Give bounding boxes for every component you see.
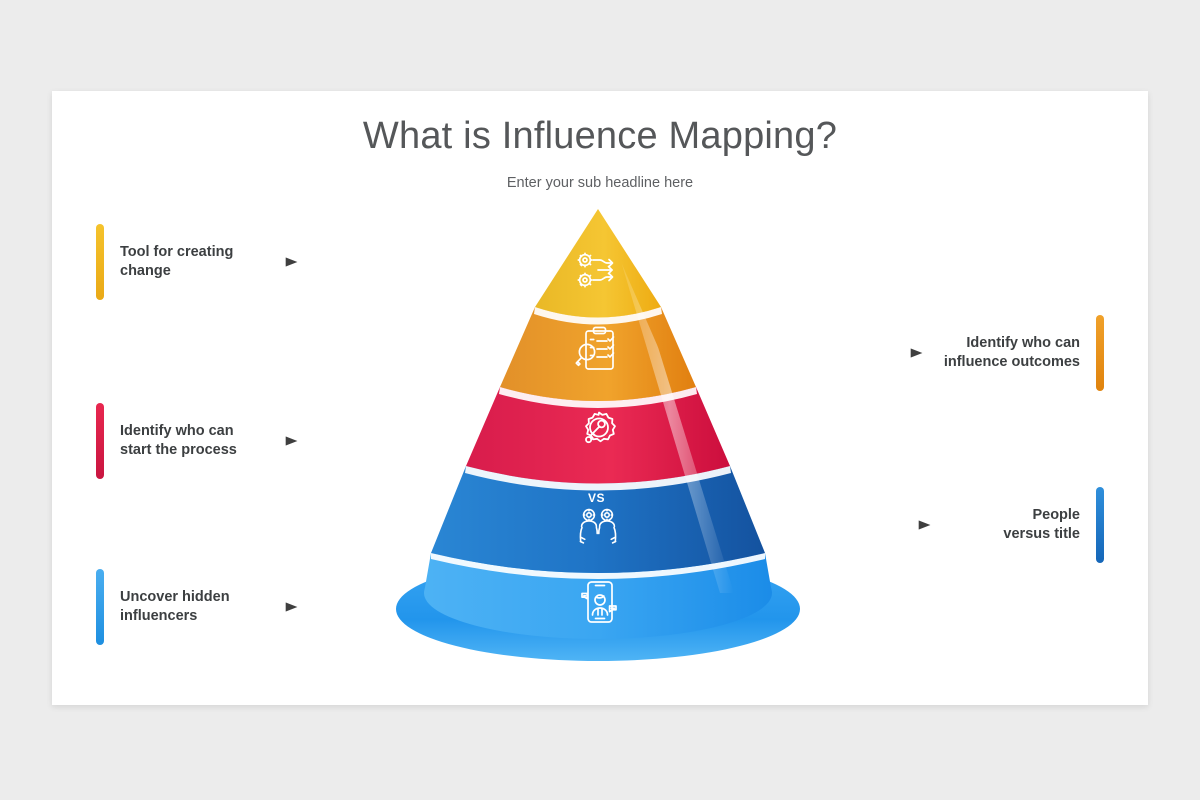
callout-label: Tool for creating change — [120, 243, 233, 282]
accent-bar-yellow — [96, 224, 104, 300]
callout-label: Uncover hidden influencers — [120, 588, 230, 627]
callout-identify-who-can-influence-outcomes[interactable]: Identify who can influence outcomes — [944, 315, 1104, 391]
accent-bar-crimson — [96, 403, 104, 479]
cone-svg — [348, 201, 848, 661]
callout-label: Identify who can start the process — [120, 422, 237, 461]
slide-canvas: What is Influence Mapping? Enter your su… — [52, 91, 1148, 705]
accent-bar-blue — [1096, 487, 1104, 563]
callout-label: Identify who can influence outcomes — [944, 334, 1080, 373]
influence-cone: VS — [348, 201, 848, 661]
callout-tool-for-creating-change[interactable]: Tool for creating change — [96, 224, 233, 300]
callout-identify-who-can-start-the-process[interactable]: Identify who can start the process — [96, 403, 237, 479]
callout-people-versus-title[interactable]: People versus title — [1003, 487, 1104, 563]
vs-badge: VS — [588, 491, 605, 505]
cone-tier-1 — [535, 209, 661, 318]
callout-uncover-hidden-influencers[interactable]: Uncover hidden influencers — [96, 569, 230, 645]
accent-bar-orange — [1096, 315, 1104, 391]
callout-label: People versus title — [1003, 506, 1080, 545]
accent-bar-lightblue — [96, 569, 104, 645]
